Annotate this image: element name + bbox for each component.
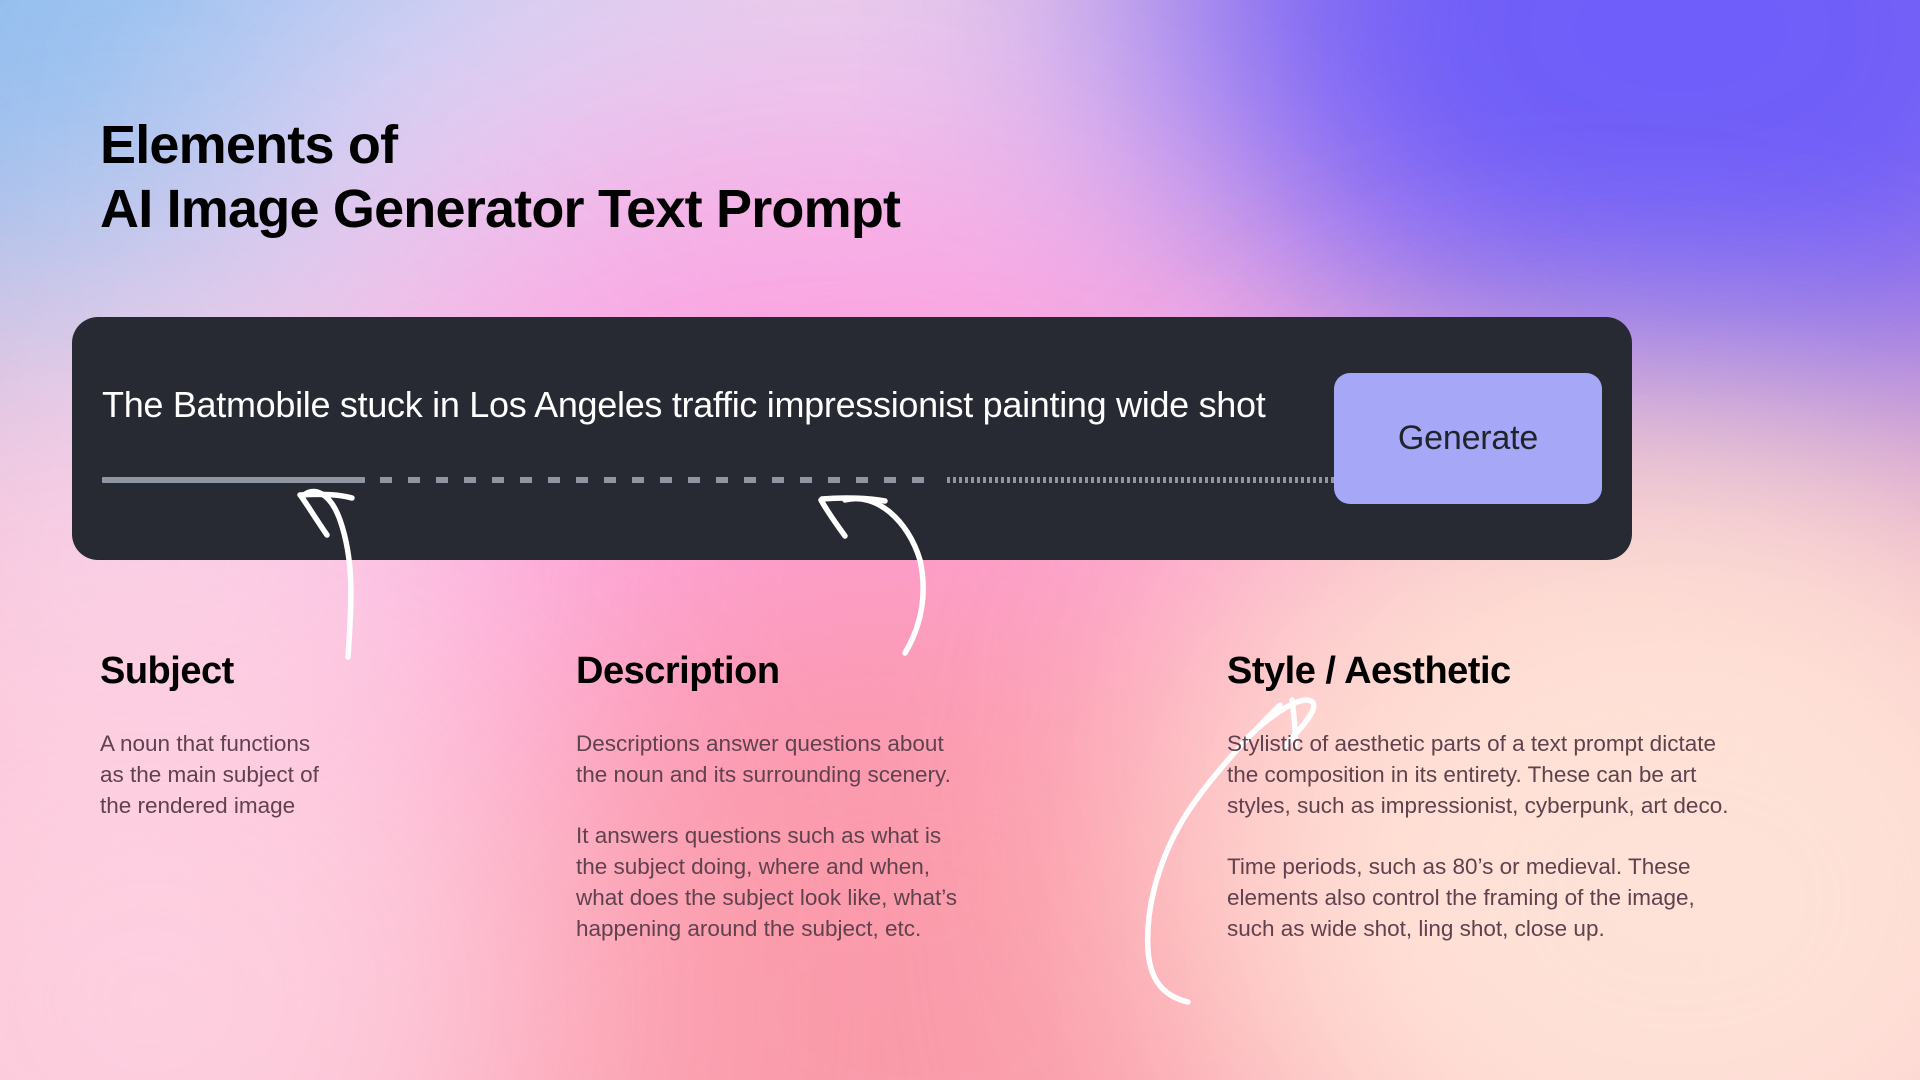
column-description: Description Descriptions answer question… — [576, 652, 1076, 944]
underline-segment-description — [380, 477, 935, 483]
prompt-bar: The Batmobile stuck in Los Angeles traff… — [72, 317, 1632, 560]
column-paragraph: Descriptions answer questions about the … — [576, 728, 1076, 790]
column-paragraph: It answers questions such as what is the… — [576, 820, 1076, 944]
column-heading-style: Style / Aesthetic — [1227, 652, 1852, 690]
column-heading-subject: Subject — [100, 652, 430, 690]
page-title: Elements of AI Image Generator Text Prom… — [100, 114, 900, 241]
column-heading-description: Description — [576, 652, 1076, 690]
column-paragraph: Time periods, such as 80’s or medieval. … — [1227, 851, 1852, 944]
prompt-input[interactable]: The Batmobile stuck in Los Angeles traff… — [102, 387, 1517, 423]
column-paragraph: A noun that functions as the main subjec… — [100, 728, 430, 821]
prompt-input-value: The Batmobile stuck in Los Angeles traff… — [102, 387, 1517, 423]
underline-segment-subject — [102, 477, 365, 483]
column-subject: Subject A noun that functions as the mai… — [100, 652, 430, 821]
generate-button[interactable]: Generate — [1334, 373, 1602, 504]
prompt-underline-group — [102, 477, 1517, 485]
column-paragraph: Stylistic of aesthetic parts of a text p… — [1227, 728, 1852, 821]
column-style-aesthetic: Style / Aesthetic Stylistic of aesthetic… — [1227, 652, 1852, 944]
